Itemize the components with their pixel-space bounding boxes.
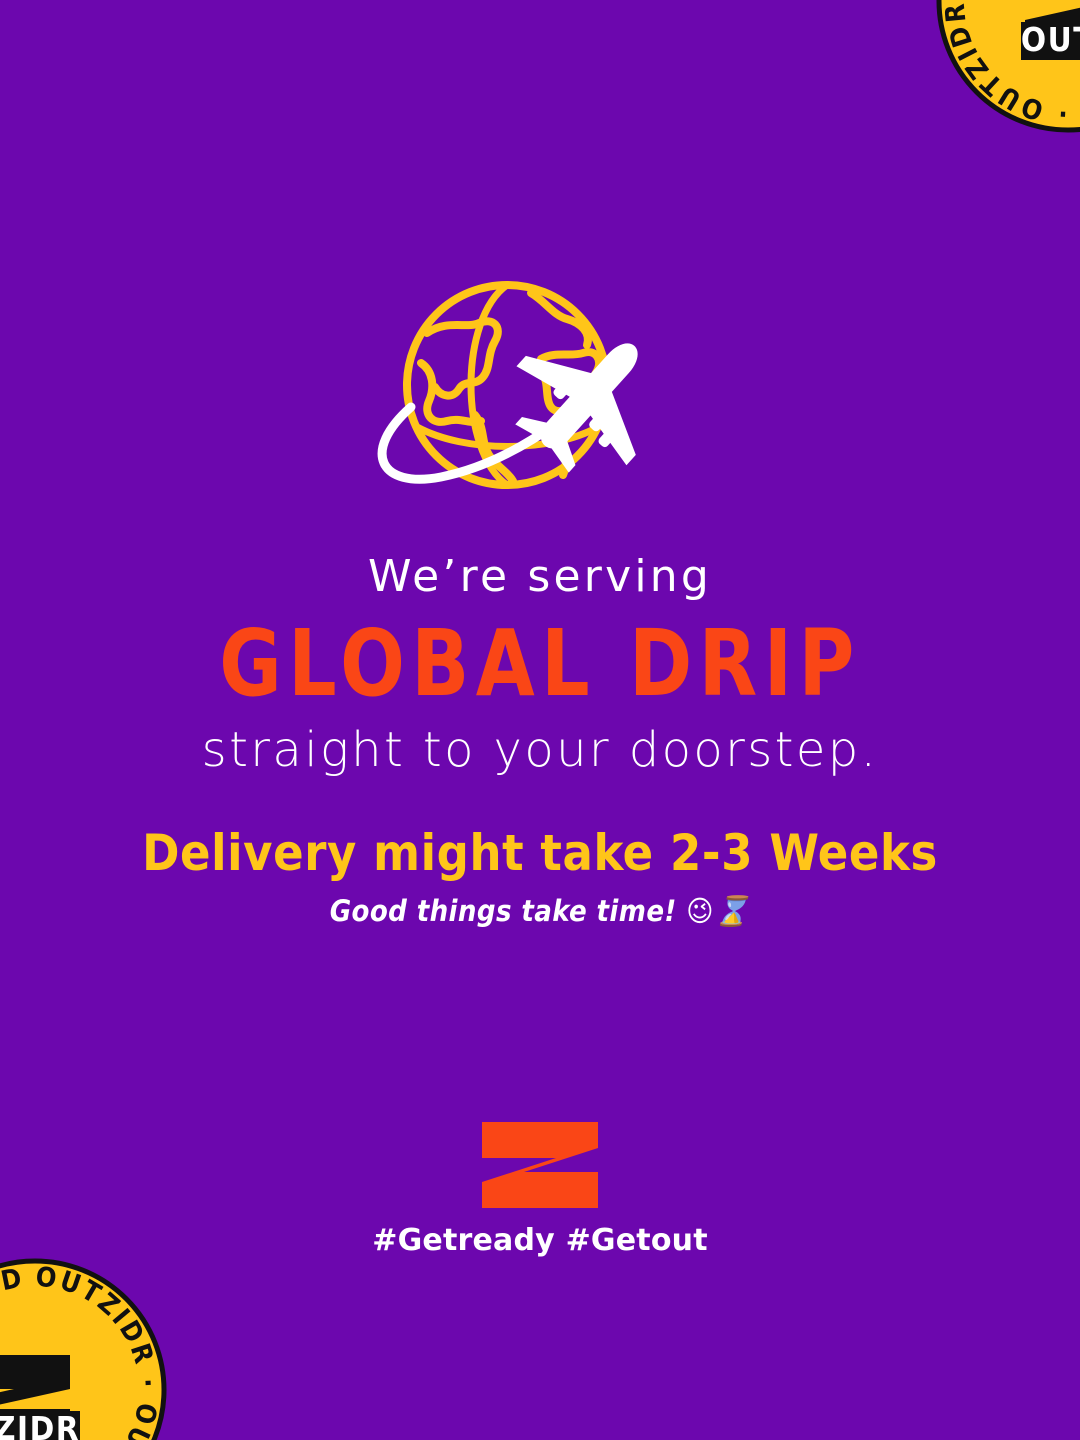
z-logo-mark: [478, 1122, 602, 1208]
stamp-wordmark: OUTZIDR: [1021, 20, 1080, 59]
delivery-notice-text: Delivery might take 2-3 Weeks: [0, 824, 1080, 882]
brand-stamp-bottom-left: OUTZIDR · OUTZIDR · OUTZIDR · OUTZIDR · …: [0, 1257, 168, 1440]
eyebrow-text: We’re serving: [0, 548, 1080, 606]
headline-copy-block: We’re serving GLOBAL DRIP straight to yo…: [0, 548, 1080, 780]
brand-stamp-top-right: OUTZIDR · OUTZIDR · OUTZIDR · OUTZIDR · …: [935, 0, 1080, 134]
page-title: GLOBAL DRIP: [43, 612, 1037, 716]
tagline-text: straight to your doorstep.: [0, 720, 1080, 780]
delivery-subnote-text: Good things take time! 😉⌛: [0, 892, 1080, 930]
stamp-wordmark: OUTZIDR: [0, 1409, 80, 1440]
delivery-notice-block: Delivery might take 2-3 Weeks Good thing…: [0, 824, 1080, 930]
hashtags-text: #Getready #Getout: [0, 1222, 1080, 1260]
poster-canvas: We’re serving GLOBAL DRIP straight to yo…: [0, 0, 1080, 1440]
globe-with-airplane-icon: [355, 275, 715, 510]
footer-block: #Getready #Getout: [0, 1122, 1080, 1260]
